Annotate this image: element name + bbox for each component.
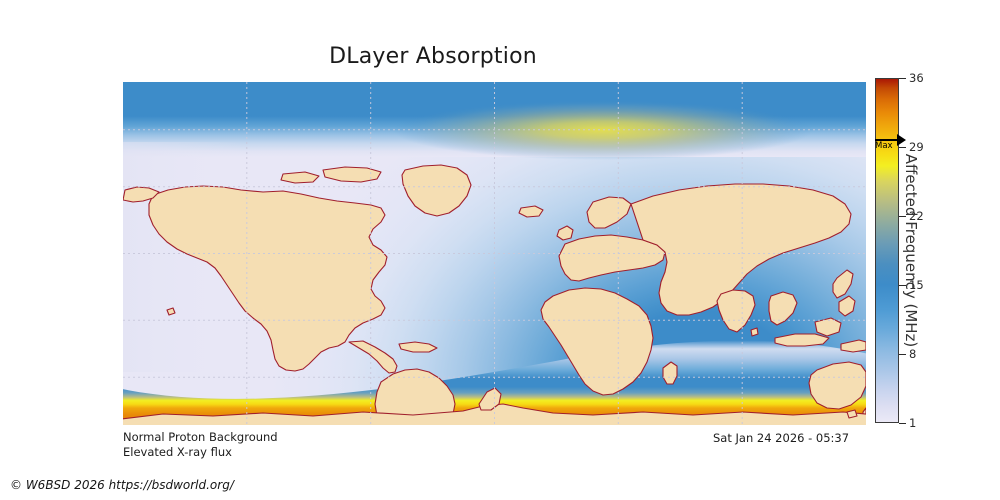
max-marker-label: Max bbox=[875, 141, 893, 151]
colorbar-axis-label: Affected Frequency (MHz) bbox=[900, 78, 922, 423]
dlayer-absorption-figure: DLayer Absorption bbox=[0, 0, 1000, 500]
timestamp: Sat Jan 24 2026 - 05:37 bbox=[713, 431, 849, 445]
colorbar-tick bbox=[899, 423, 906, 424]
colorbar[interactable]: 1815222936 Max bbox=[875, 78, 899, 423]
coast-iceland bbox=[519, 206, 543, 217]
coast-tasmania bbox=[847, 410, 857, 418]
world-absorption-map[interactable] bbox=[123, 82, 866, 425]
status-note-xray: Elevated X-ray flux bbox=[123, 445, 232, 459]
colorbar-gradient bbox=[875, 78, 899, 423]
status-note-proton: Normal Proton Background bbox=[123, 430, 278, 444]
map-canvas bbox=[123, 82, 866, 425]
coast-hawaii bbox=[167, 308, 175, 315]
coast-sri-lanka bbox=[751, 328, 758, 336]
page-title: DLayer Absorption bbox=[0, 44, 866, 69]
credit-line: © W6BSD 2026 https://bsdworld.org/ bbox=[10, 478, 234, 492]
